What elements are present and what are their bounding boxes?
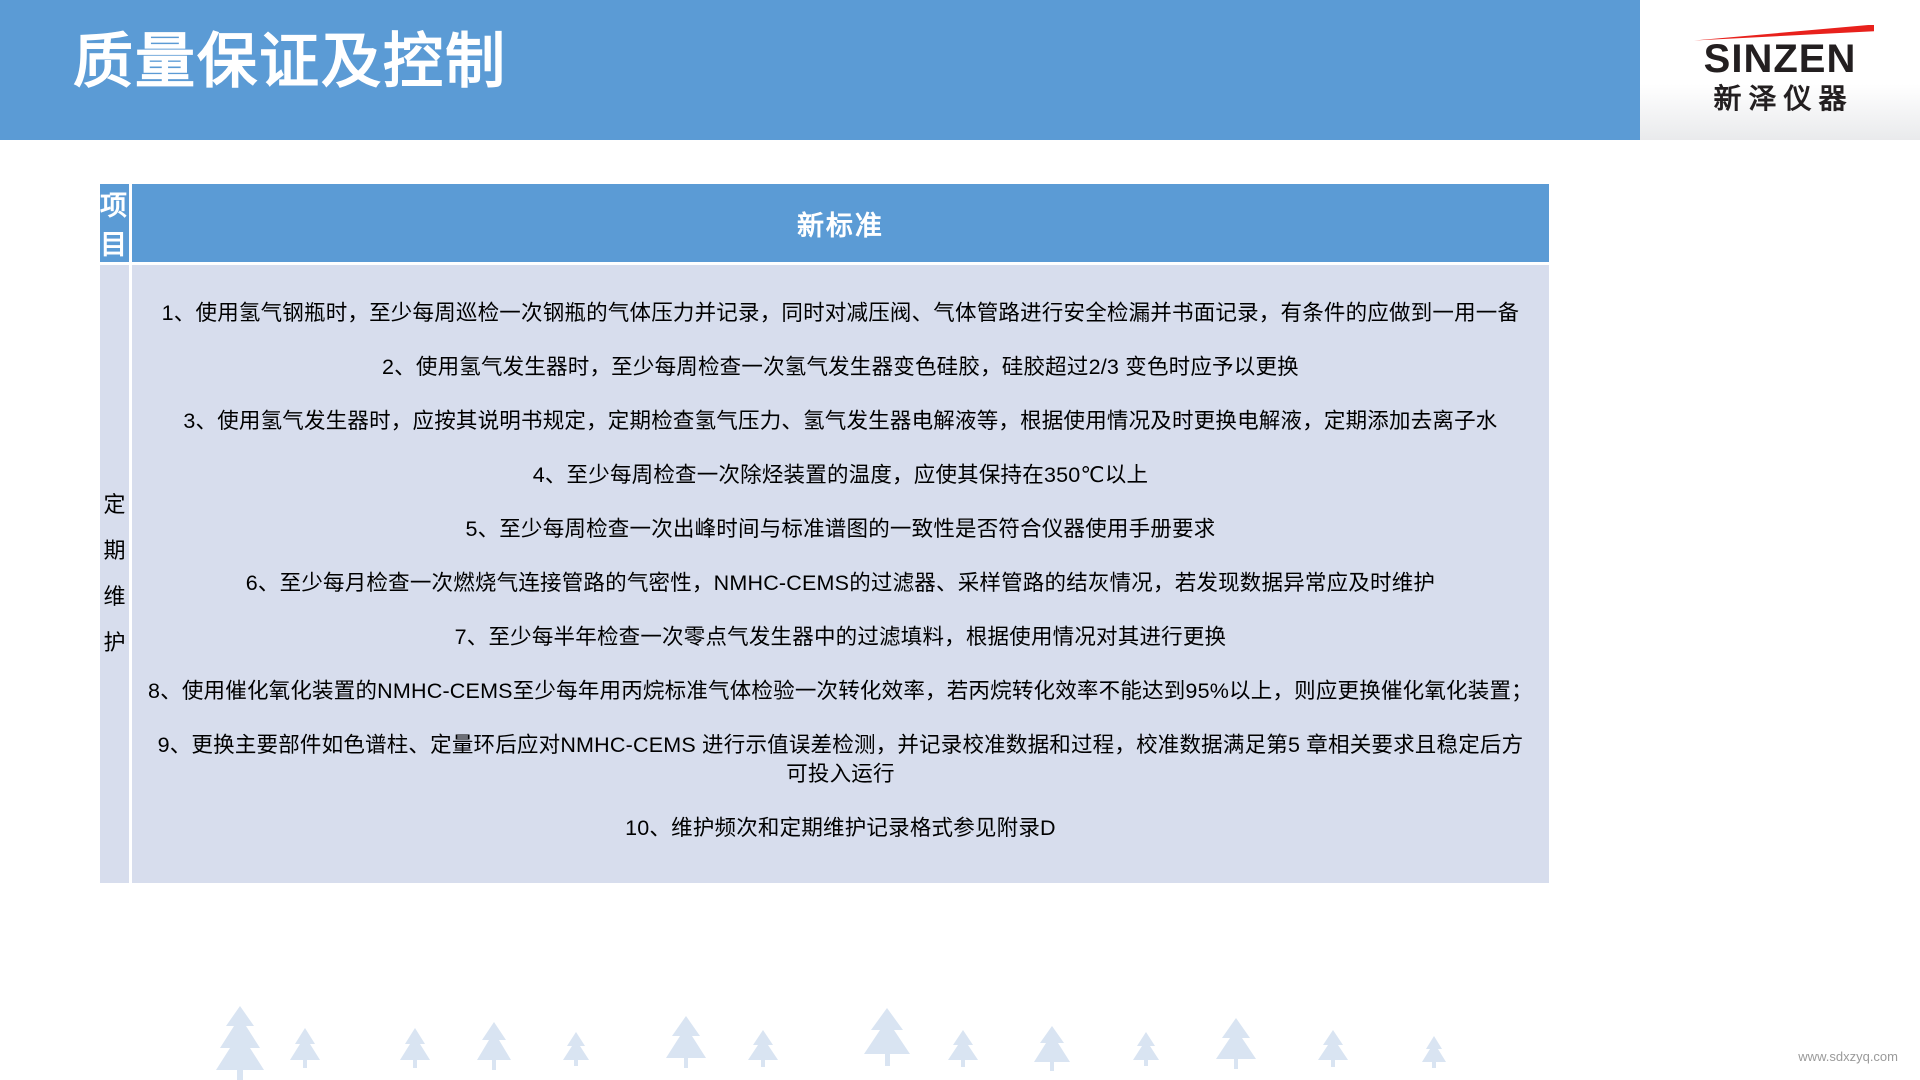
website-url: www.sdxzyq.com: [1798, 1049, 1898, 1064]
rule-item-6: 6、至少每月检查一次燃烧气连接管路的气密性，NMHC-CEMS的过滤器、采样管路…: [148, 569, 1533, 598]
title-band: 质量保证及控制: [0, 0, 1640, 140]
column-header-item: 项目: [100, 184, 132, 262]
logo-latin-text: SINZEN: [1704, 39, 1857, 79]
rule-item-3: 3、使用氢气发生器时，应按其说明书规定，定期检查氢气压力、氢气发生器电解液等，根…: [148, 407, 1533, 436]
table-header-row: 项目 新标准: [100, 184, 1549, 262]
logo-chinese-text: 新泽仪器: [1706, 81, 1853, 116]
rule-item-7: 7、至少每半年检查一次零点气发生器中的过滤填料，根据使用情况对其进行更换: [148, 623, 1533, 652]
table-row: 定期 维护 1、使用氢气钢瓶时，至少每周巡检一次钢瓶的气体压力并记录，同时对减压…: [100, 262, 1549, 883]
row-label-line-2: 维护: [100, 574, 129, 666]
row-label-maintenance: 定期 维护: [100, 262, 132, 883]
rule-item-4: 4、至少每周检查一次除烃装置的温度，应使其保持在350℃以上: [148, 461, 1533, 490]
rule-item-8: 8、使用催化氧化装置的NMHC-CEMS至少每年用丙烷标准气体检验一次转化效率，…: [148, 677, 1533, 706]
quality-control-table: 项目 新标准 定期 维护 1、使用氢气钢瓶时，至少每周巡检一次钢瓶的气体压力并记…: [100, 184, 1549, 883]
rule-item-9: 9、更换主要部件如色谱柱、定量环后应对NMHC-CEMS 进行示值误差检测，并记…: [148, 731, 1533, 789]
rule-item-5: 5、至少每周检查一次出峰时间与标准谱图的一致性是否符合仪器使用手册要求: [148, 515, 1533, 544]
rule-item-2: 2、使用氢气发生器时，至少每周检查一次氢气发生器变色硅胶，硅胶超过2/3 变色时…: [148, 353, 1533, 382]
page-title: 质量保证及控制: [73, 26, 507, 98]
row-content-rules: 1、使用氢气钢瓶时，至少每周巡检一次钢瓶的气体压力并记录，同时对减压阀、气体管路…: [132, 262, 1549, 883]
company-logo: SINZEN 新泽仪器: [1640, 0, 1920, 140]
tree-icon: [0, 1000, 1920, 1080]
row-label-line-1: 定期: [100, 482, 129, 574]
rule-item-1: 1、使用氢气钢瓶时，至少每周巡检一次钢瓶的气体压力并记录，同时对减压阀、气体管路…: [148, 299, 1533, 328]
column-header-standard: 新标准: [132, 184, 1549, 262]
rule-item-10: 10、维护频次和定期维护记录格式参见附录D: [148, 814, 1533, 843]
tree-decoration: [0, 1000, 1920, 1080]
